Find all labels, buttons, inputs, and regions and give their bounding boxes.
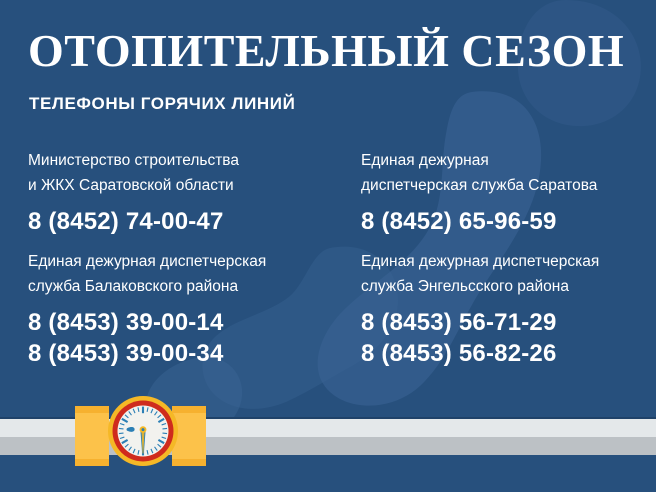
phone-number[interactable]: 8 (8453) 56-82-26 — [361, 338, 656, 369]
phone-number[interactable]: 8 (8452) 74-00-47 — [28, 206, 346, 237]
contact-block: Единая дежурная диспетчерская служба Сар… — [346, 148, 656, 249]
page-title: ОТОПИТЕЛЬНЫЙ СЕЗОН — [28, 26, 624, 76]
flange-lip — [75, 459, 109, 466]
organization-name: Министерство строительства и ЖКХ Саратов… — [28, 148, 346, 198]
contact-block: Министерство строительства и ЖКХ Саратов… — [28, 148, 346, 249]
contact-block: Единая дежурная диспетчерская служба Энг… — [346, 249, 656, 381]
organization-name: Единая дежурная диспетчерская служба Энг… — [361, 249, 656, 299]
organization-name: Единая дежурная диспетчерская служба Бал… — [28, 249, 346, 299]
contact-block: Единая дежурная диспетчерская служба Бал… — [28, 249, 346, 381]
phone-number[interactable]: 8 (8453) 39-00-14 — [28, 307, 346, 338]
pipe-flange-left — [75, 411, 109, 461]
phone-number[interactable]: 8 (8453) 39-00-34 — [28, 338, 346, 369]
page-subtitle: ТЕЛЕФОНЫ ГОРЯЧИХ ЛИНИЙ — [29, 93, 295, 115]
phone-number[interactable]: 8 (8452) 65-96-59 — [361, 206, 656, 237]
heating-season-poster: ОТОПИТЕЛЬНЫЙ СЕЗОН ТЕЛЕФОНЫ ГОРЯЧИХ ЛИНИ… — [0, 0, 656, 492]
pressure-gauge-icon — [107, 395, 179, 467]
flange-lip — [75, 406, 109, 413]
organization-name: Единая дежурная диспетчерская служба Сар… — [361, 148, 656, 198]
contacts-grid: Министерство строительства и ЖКХ Саратов… — [0, 148, 656, 381]
pipe-illustration — [0, 417, 656, 492]
phone-number[interactable]: 8 (8453) 56-71-29 — [361, 307, 656, 338]
